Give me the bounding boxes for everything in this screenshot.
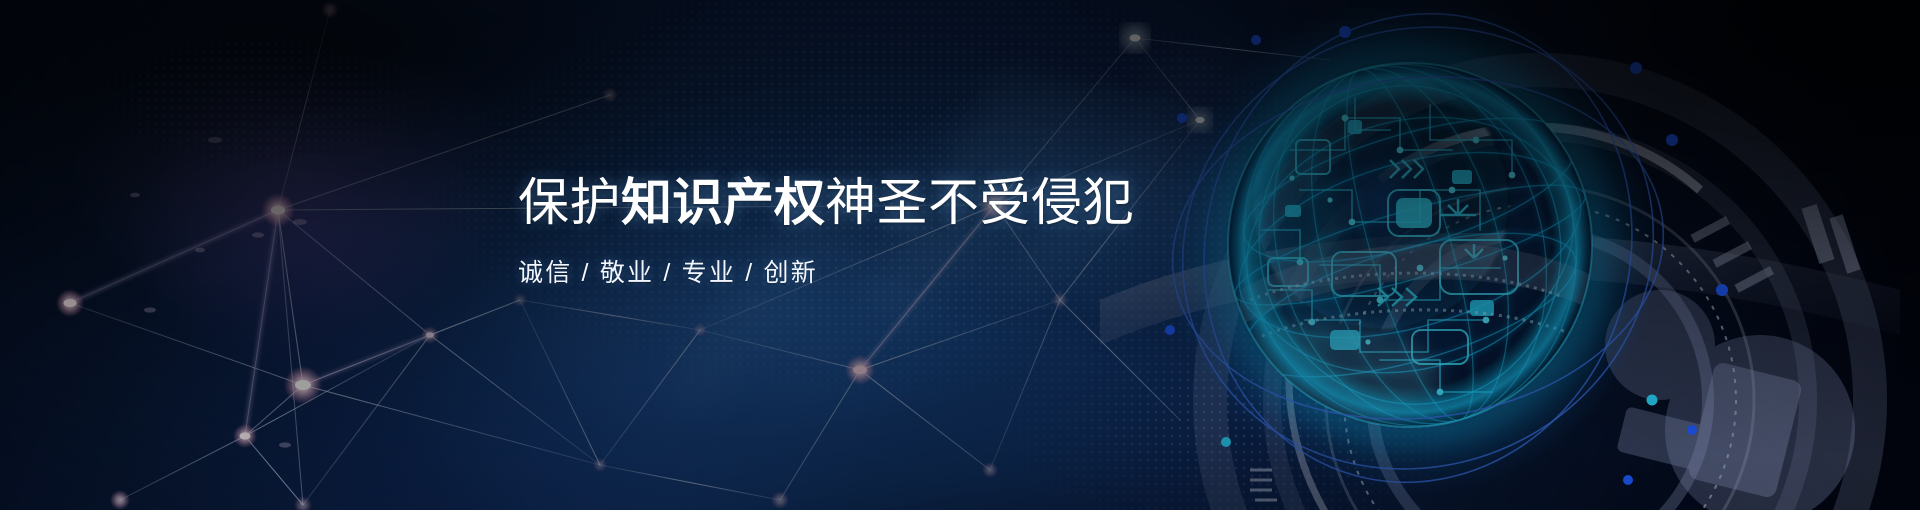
banner-copy: 保护知识产权神圣不受侵犯 诚信 / 敬业 / 专业 / 创新 bbox=[518, 173, 1418, 289]
hero-banner: 保护知识产权神圣不受侵犯 诚信 / 敬业 / 专业 / 创新 bbox=[0, 0, 1920, 510]
headline-segment-2: 知识产权 bbox=[621, 174, 825, 231]
headline-segment-3: 神圣不受侵犯 bbox=[825, 174, 1134, 231]
banner-subtitle: 诚信 / 敬业 / 专业 / 创新 bbox=[518, 253, 1418, 289]
headline-segment-1: 保护 bbox=[518, 174, 621, 231]
page-title: 保护知识产权神圣不受侵犯 bbox=[518, 173, 1418, 232]
